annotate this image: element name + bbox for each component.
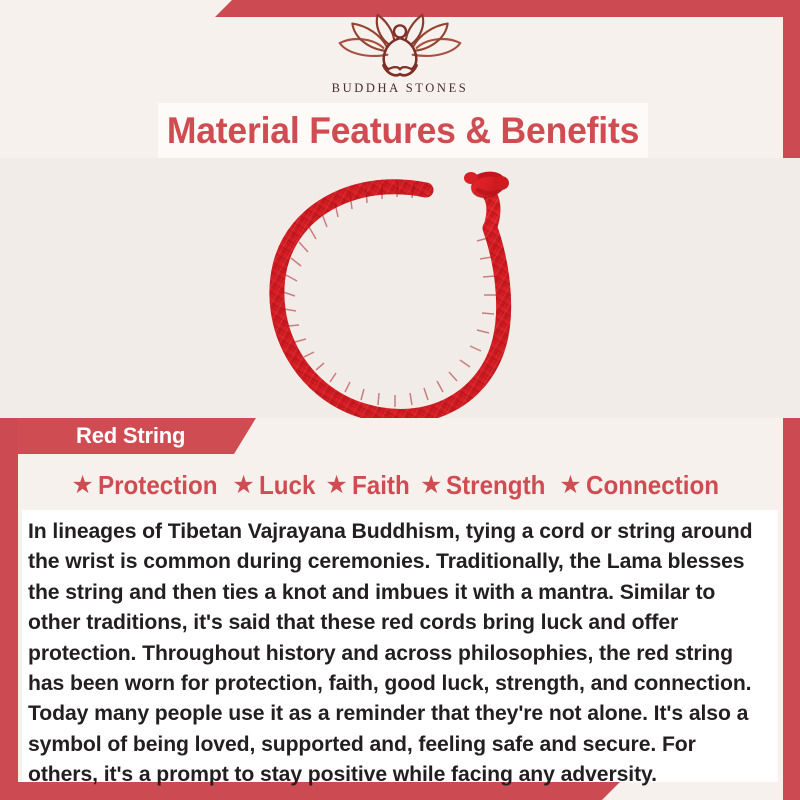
material-banner: Red String (18, 418, 256, 454)
lotus-meditation-figure-icon (325, 10, 475, 80)
benefit-item-connection: ★ Connection (559, 470, 728, 501)
brand-wordmark: BUDDHA STONES (332, 81, 469, 96)
material-banner-label: Red String (76, 423, 185, 449)
description-paragraph: In lineages of Tibetan Vajrayana Buddhis… (28, 516, 757, 790)
benefit-label: Connection (586, 470, 719, 501)
benefits-row: ★ Protection ★ Luck ★ Faith ★ Strength ★… (22, 462, 778, 508)
benefit-item-luck: ★ Luck (232, 470, 319, 501)
page-title-box: Material Features & Benefits (158, 103, 648, 158)
benefit-item-faith: ★ Faith (325, 470, 414, 501)
star-icon: ★ (325, 473, 347, 498)
page-title: Material Features & Benefits (167, 110, 639, 152)
benefit-label: Luck (259, 470, 315, 501)
benefit-label: Faith (352, 470, 410, 501)
infographic-page: BUDDHA STONES Material Features & Benefi… (0, 0, 800, 800)
benefit-label: Protection (98, 470, 218, 501)
description-panel: In lineages of Tibetan Vajrayana Buddhis… (22, 510, 778, 782)
brand-header: BUDDHA STONES (0, 0, 800, 103)
star-icon: ★ (559, 473, 581, 498)
benefit-item-strength: ★ Strength (420, 470, 553, 501)
star-icon: ★ (420, 473, 442, 498)
benefit-label: Strength (446, 470, 545, 501)
star-icon: ★ (232, 473, 254, 498)
benefit-item-protection: ★ Protection (71, 470, 226, 501)
product-image-panel (0, 158, 800, 418)
star-icon: ★ (71, 473, 93, 498)
red-braided-string-bracelet (238, 158, 578, 418)
